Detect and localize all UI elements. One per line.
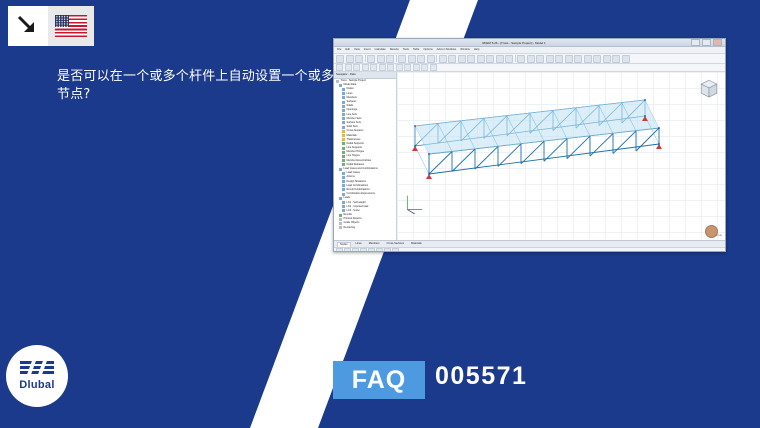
navigator-item-icon [342, 101, 345, 104]
slide-root: 是否可以在一个或多个杆件上自动设置一个或多个节点? Dlubal FAQ 005… [0, 0, 760, 428]
window-body: Navigator - Data Truss - Sample ProjectM… [334, 72, 725, 240]
navigator-item-icon [342, 121, 345, 124]
dlubal-logo-text: Dlubal [19, 379, 54, 391]
avatar [705, 225, 718, 238]
table-paste-icon[interactable] [360, 248, 367, 252]
table-new-row-icon[interactable] [336, 248, 343, 252]
table-filter-icon[interactable] [376, 248, 383, 252]
navigator-item-icon [342, 117, 345, 120]
menu-item-view[interactable]: View [354, 48, 360, 52]
application-window: RFEM 5.26 - [Truss - Sample Project] - M… [333, 38, 726, 252]
tab-lines[interactable]: Lines [354, 242, 364, 246]
navigator-panel[interactable]: Navigator - Data Truss - Sample ProjectM… [334, 72, 397, 240]
navigator-item-icon [342, 130, 345, 133]
print-icon[interactable] [367, 55, 375, 63]
navigator-item-icon [342, 176, 345, 179]
mirror-icon[interactable] [387, 64, 394, 71]
coordinate-axes-icon [403, 192, 425, 214]
navigator-item-icon [342, 159, 345, 162]
window-titlebar: RFEM 5.26 - [Truss - Sample Project] - M… [334, 39, 725, 47]
save-icon[interactable] [355, 55, 363, 63]
layer-icon[interactable] [362, 64, 369, 71]
surface-icon[interactable] [486, 55, 494, 63]
table-copy-icon[interactable] [352, 248, 359, 252]
menu-item-edit[interactable]: Edit [345, 48, 350, 52]
navigator-item-icon [342, 184, 345, 187]
measure-icon[interactable] [370, 64, 377, 71]
navigator-item-label: Combination Expressions [347, 192, 375, 196]
truss-3d-model [399, 90, 699, 200]
navigator-header: Navigator - Data [334, 72, 396, 79]
window-controls [691, 39, 722, 46]
toolbar-separator [365, 55, 366, 62]
undo-icon[interactable] [377, 55, 385, 63]
navigator-item-icon [342, 163, 345, 166]
navigator-item-icon [342, 88, 345, 91]
pan-icon[interactable] [417, 55, 425, 63]
redo-icon[interactable] [386, 55, 394, 63]
navigator-item-icon [342, 126, 345, 129]
support-icon[interactable] [496, 55, 504, 63]
help-icon[interactable] [565, 55, 573, 63]
rotate-icon[interactable] [427, 55, 435, 63]
copy-icon[interactable] [379, 64, 386, 71]
navigator-item-icon [342, 193, 345, 196]
delete-icon[interactable] [430, 64, 437, 71]
navigator-item-icon [342, 188, 345, 191]
tables-panel[interactable]: Nodes Lines Members Cross-Sections Mater… [334, 240, 725, 252]
toolbar-separator [396, 55, 397, 62]
maximize-button[interactable] [702, 39, 711, 46]
navigator-item-icon [342, 96, 345, 99]
load-case-selector-icon[interactable] [336, 64, 343, 71]
navigator-item-icon [342, 105, 345, 108]
menu-item-insert[interactable]: Insert [364, 48, 371, 52]
dimension-icon[interactable] [593, 55, 601, 63]
table-delete-row-icon[interactable] [344, 248, 351, 252]
material-icon[interactable] [612, 55, 620, 63]
calculate-icon[interactable] [517, 55, 525, 63]
divide-member-icon[interactable] [413, 64, 420, 71]
navigator-item-icon [342, 172, 345, 175]
section-icon[interactable] [603, 55, 611, 63]
navigator-item-icon [342, 138, 345, 141]
navigator-item-icon [342, 109, 345, 112]
tab-members[interactable]: Members [367, 242, 382, 246]
navigator-item-icon [339, 197, 342, 200]
menu-item-tools[interactable]: Tools [403, 48, 409, 52]
render-icon[interactable] [439, 55, 447, 63]
connect-members-icon[interactable] [421, 64, 428, 71]
tab-cross-sections[interactable]: Cross-Sections [385, 242, 407, 246]
node-icon[interactable] [458, 55, 466, 63]
secondary-toolbar[interactable] [334, 64, 725, 72]
menu-item-help[interactable]: Help [474, 48, 480, 52]
view-cube-icon[interactable] [696, 75, 722, 101]
minimize-button[interactable] [691, 39, 700, 46]
toolbar-separator [436, 55, 437, 62]
table-settings-icon[interactable] [392, 248, 399, 252]
new-icon[interactable] [336, 55, 344, 63]
rotate-object-icon[interactable] [396, 64, 403, 71]
navigator-item-label: Rendering [344, 226, 356, 230]
menu-item-results[interactable]: Results [390, 48, 399, 52]
navigator-item-icon [342, 92, 345, 95]
navigator-item-icon [342, 205, 345, 208]
menu-item-options[interactable]: Options [423, 48, 432, 52]
menu-item-file[interactable]: File [337, 48, 341, 52]
faq-number: 005571 [435, 362, 527, 391]
snap-icon[interactable] [584, 55, 592, 63]
navigator-item-icon [342, 155, 345, 158]
load-icon[interactable] [505, 55, 513, 63]
visibility-icon[interactable] [345, 64, 352, 71]
arrow-down-right-icon [8, 6, 48, 46]
menu-item-window[interactable]: Window [460, 48, 470, 52]
navigator-item-icon [342, 201, 345, 204]
faq-badge: FAQ [333, 361, 425, 399]
wireframe-icon[interactable] [448, 55, 456, 63]
dlubal-logo-mark [20, 361, 54, 377]
navigator-item-icon [336, 80, 339, 83]
member-icon[interactable] [477, 55, 485, 63]
table-toolbar[interactable] [334, 248, 725, 252]
results-icon[interactable] [527, 55, 535, 63]
navigator-item-icon [339, 84, 342, 87]
usa-flag-icon [55, 15, 87, 37]
navigator-item-icon [342, 180, 345, 183]
navigator-item-icon [339, 226, 342, 229]
faq-label: FAQ [352, 366, 406, 395]
zoom-window-icon[interactable] [408, 55, 416, 63]
language-flag-button[interactable] [48, 6, 94, 46]
table-export-icon[interactable] [384, 248, 391, 252]
navigator-item-icon [342, 147, 345, 150]
navigator-item-icon [342, 134, 345, 137]
navigator-item-icon [339, 218, 342, 221]
page-title: 是否可以在一个或多个杆件上自动设置一个或多个节点? [57, 68, 357, 104]
model-viewport[interactable]: Max: 8.0 mm [397, 72, 725, 240]
navigator-item-icon [339, 222, 342, 225]
scale-icon[interactable] [404, 64, 411, 71]
navigator-item-icon [342, 113, 345, 116]
navigator-item-icon [342, 209, 345, 212]
close-button[interactable] [713, 39, 722, 46]
tab-nodes[interactable]: Nodes [337, 242, 351, 247]
navigator-item-icon [342, 142, 345, 145]
menu-item-calculate[interactable]: Calculate [375, 48, 386, 52]
menu-item-addon-modules[interactable]: Add-on Modules [437, 48, 457, 52]
view-icon[interactable] [622, 55, 630, 63]
window-title: RFEM 5.26 - [Truss - Sample Project] - M… [337, 41, 691, 45]
menu-item-table[interactable]: Table [413, 48, 419, 52]
navigator-item[interactable]: Rendering [334, 226, 396, 230]
navigator-item-icon [339, 214, 342, 217]
navigator-tree[interactable]: Truss - Sample ProjectModel DataNodesLin… [334, 79, 396, 230]
grid-icon[interactable] [574, 55, 582, 63]
deformation-icon[interactable] [536, 55, 544, 63]
main-toolbar[interactable] [334, 54, 725, 64]
dlubal-logo: Dlubal [6, 345, 68, 407]
navigator-item-icon [342, 151, 345, 154]
printout-report-icon[interactable] [546, 55, 554, 63]
open-icon[interactable] [346, 55, 354, 63]
table-sort-icon[interactable] [368, 248, 375, 252]
zoom-all-icon[interactable] [398, 55, 406, 63]
tab-materials[interactable]: Materials [409, 242, 424, 246]
menu-bar[interactable]: File Edit View Insert Calculate Results … [334, 47, 725, 54]
line-icon[interactable] [467, 55, 475, 63]
filter-icon[interactable] [353, 64, 360, 71]
settings-icon[interactable] [555, 55, 563, 63]
toolbar-separator [515, 55, 516, 62]
navigator-item-icon [339, 168, 342, 171]
